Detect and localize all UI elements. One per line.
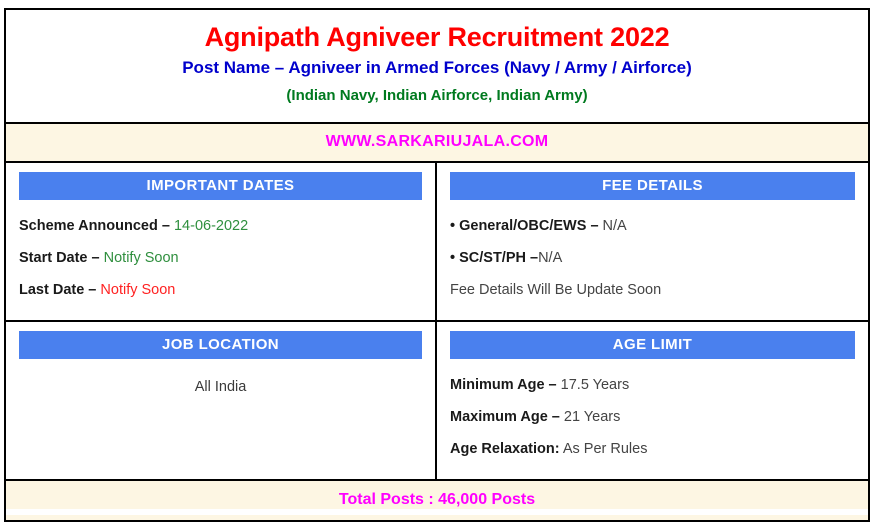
page-title: Agnipath Agniveer Recruitment 2022: [6, 20, 868, 54]
fee-note: Fee Details Will Be Update Soon: [450, 274, 855, 306]
date-row: Last Date – Notify Soon: [19, 274, 422, 306]
bullet-icon: •: [450, 250, 455, 266]
date-label: Start Date –: [19, 250, 100, 266]
date-label: Scheme Announced –: [19, 218, 170, 234]
job-location-value: All India: [6, 365, 435, 403]
age-label: Age Relaxation:: [450, 441, 560, 457]
forces-line: (Indian Navy, Indian Airforce, Indian Ar…: [6, 82, 868, 110]
age-value: As Per Rules: [563, 441, 648, 457]
fee-label: SC/ST/PH –: [459, 250, 538, 266]
date-value: Notify Soon: [100, 282, 175, 298]
title-row: Agnipath Agniveer Recruitment 2022 Post …: [6, 10, 868, 124]
website-band-cell: WWW.SARKARIUJALA.COM: [6, 124, 868, 161]
website-band-row: WWW.SARKARIUJALA.COM: [6, 124, 868, 163]
date-value: Notify Soon: [104, 250, 179, 266]
important-dates-heading: IMPORTANT DATES: [19, 172, 422, 200]
age-row: Age Relaxation: As Per Rules: [450, 433, 855, 465]
fee-details-heading: FEE DETAILS: [450, 172, 855, 200]
age-label: Maximum Age –: [450, 409, 560, 425]
date-row: Scheme Announced – 14-06-2022: [19, 210, 422, 242]
job-location-heading: JOB LOCATION: [19, 331, 422, 359]
age-label: Minimum Age –: [450, 377, 557, 393]
website-url[interactable]: WWW.SARKARIUJALA.COM: [326, 133, 549, 150]
fee-value: N/A: [603, 218, 627, 234]
total-posts-row: Total Posts : 46,000 Posts: [6, 481, 868, 522]
total-posts-text: Total Posts : 46,000 Posts: [339, 491, 535, 508]
fee-value: N/A: [538, 250, 562, 266]
date-label: Last Date –: [19, 282, 96, 298]
age-row: Maximum Age – 21 Years: [450, 401, 855, 433]
important-dates-body: Scheme Announced – 14-06-2022 Start Date…: [6, 206, 435, 320]
recruitment-info-table-page: Agnipath Scheme Agnipath Agniveer Recrui…: [0, 0, 875, 522]
age-limit-cell: AGE LIMIT Minimum Age – 17.5 Years Maxim…: [437, 322, 868, 479]
fee-label: General/OBC/EWS –: [459, 218, 598, 234]
age-limit-heading: AGE LIMIT: [450, 331, 855, 359]
fee-details-cell: FEE DETAILS • General/OBC/EWS – N/A • SC…: [437, 163, 868, 320]
age-value: 21 Years: [564, 409, 620, 425]
location-age-row: JOB LOCATION All India AGE LIMIT Minimum…: [6, 322, 868, 481]
fee-row: • General/OBC/EWS – N/A: [450, 210, 855, 242]
date-value: 14-06-2022: [174, 218, 248, 234]
job-location-cell: JOB LOCATION All India: [6, 322, 437, 479]
post-name-line: Post Name – Agniveer in Armed Forces (Na…: [6, 54, 868, 82]
age-value: 17.5 Years: [561, 377, 630, 393]
recruitment-table: Agnipath Agniveer Recruitment 2022 Post …: [4, 8, 870, 522]
fee-details-body: • General/OBC/EWS – N/A • SC/ST/PH –N/A …: [437, 206, 868, 320]
date-row: Start Date – Notify Soon: [19, 242, 422, 274]
dates-fee-row: IMPORTANT DATES Scheme Announced – 14-06…: [6, 163, 868, 322]
bullet-icon: •: [450, 218, 455, 234]
table-bottom-continuation: [4, 509, 870, 515]
age-row: Minimum Age – 17.5 Years: [450, 369, 855, 401]
title-cell: Agnipath Agniveer Recruitment 2022 Post …: [6, 10, 868, 122]
important-dates-cell: IMPORTANT DATES Scheme Announced – 14-06…: [6, 163, 437, 320]
age-limit-body: Minimum Age – 17.5 Years Maximum Age – 2…: [437, 365, 868, 479]
fee-row: • SC/ST/PH –N/A: [450, 242, 855, 274]
